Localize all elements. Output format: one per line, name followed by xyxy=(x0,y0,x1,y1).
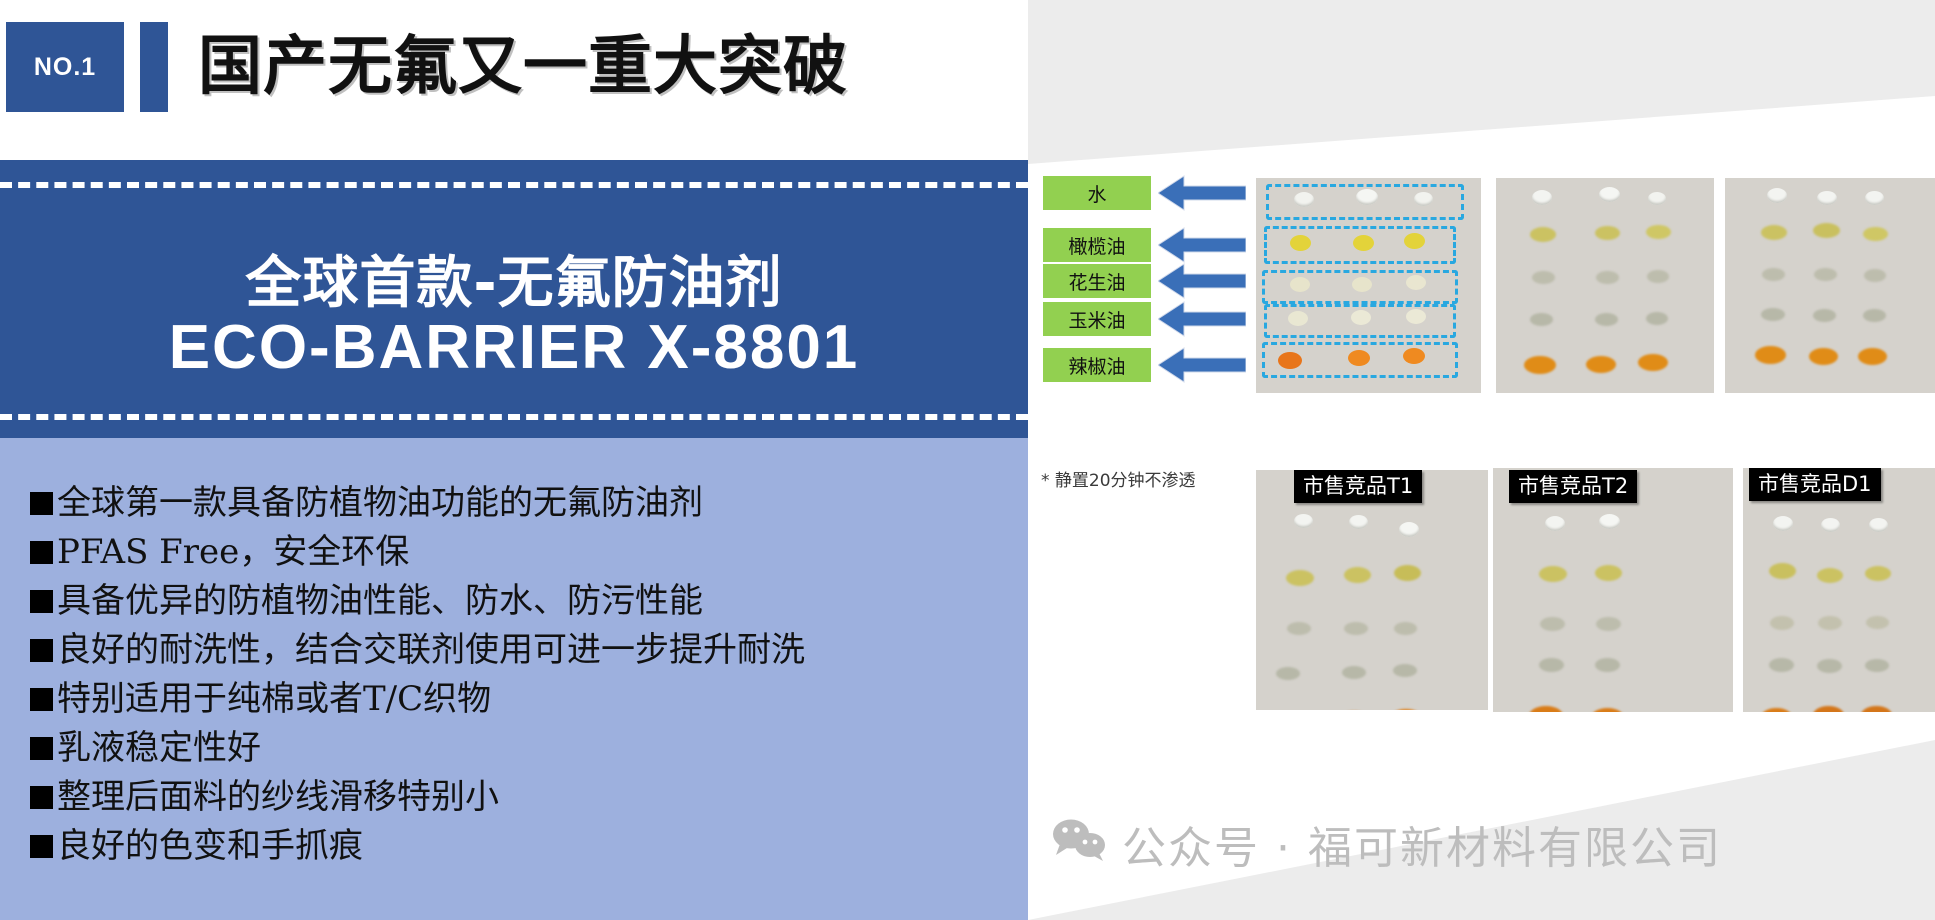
stain xyxy=(1591,708,1624,712)
stain xyxy=(1276,667,1300,680)
stain xyxy=(1817,568,1843,583)
hero-dashed-divider-top xyxy=(0,182,1028,188)
stain xyxy=(1344,622,1368,635)
stain xyxy=(1813,309,1836,322)
liquid-label-text: 水 xyxy=(1087,180,1106,207)
decorative-diagonal-bottom xyxy=(1028,700,1935,920)
bullet-square-icon xyxy=(30,737,53,760)
pointer-arrow-icon xyxy=(1158,174,1246,212)
footnote-text: * 静置20分钟不渗透 xyxy=(1041,466,1196,491)
stain xyxy=(1858,348,1887,365)
stain xyxy=(1646,312,1668,325)
stain xyxy=(1596,271,1619,284)
stain xyxy=(1769,563,1796,579)
stain xyxy=(1814,268,1837,281)
stain xyxy=(1817,659,1842,673)
list-item: 特别适用于纯棉或者T/C织物 xyxy=(30,676,1028,722)
test-card-competitor-t1: 市售竞品T1 xyxy=(1256,470,1488,710)
stain xyxy=(1539,566,1567,582)
bullet-text: PFAS Free，安全环保 xyxy=(57,529,409,575)
droplet xyxy=(1869,518,1888,532)
stain xyxy=(1530,313,1553,326)
liquid-label-text: 玉米油 xyxy=(1068,306,1125,333)
droplet xyxy=(1821,518,1840,532)
bullet-text: 特别适用于纯棉或者T/C织物 xyxy=(57,676,491,722)
bullet-text: 整理后面料的纱线滑移特别小 xyxy=(57,774,499,820)
hero-title-cn: 全球首款-无氟防油剂 xyxy=(0,238,1028,319)
droplet xyxy=(1403,348,1425,364)
hero-title-en: ECO-BARRIER X-8801 xyxy=(0,312,1028,383)
test-card-competitor-d1: 市售竞品D1 xyxy=(1743,468,1935,712)
stain xyxy=(1865,659,1889,672)
droplet xyxy=(1773,516,1793,531)
hero-dashed-divider-bottom xyxy=(0,414,1028,420)
test-card-label: 市售竞品D1 xyxy=(1749,468,1881,501)
stain xyxy=(1530,227,1556,242)
droplet xyxy=(1817,191,1837,205)
bullet-square-icon xyxy=(30,590,53,613)
left-content-column: NO.1 国产无氟又一重大突破 全球首款-无氟防油剂 ECO-BARRIER X… xyxy=(0,0,1028,920)
liquid-label-water: 水 xyxy=(1043,176,1151,210)
list-item: 全球第一款具备防植物油功能的无氟防油剂 xyxy=(30,480,1028,526)
stain xyxy=(1595,658,1620,672)
bullet-square-icon xyxy=(30,835,53,858)
list-item: 整理后面料的纱线滑移特别小 xyxy=(30,774,1028,820)
stain xyxy=(1762,268,1785,281)
test-card-competitor-r2: 市售竞品R2 xyxy=(1725,178,1935,393)
droplet xyxy=(1532,190,1552,205)
droplet xyxy=(1290,277,1310,292)
test-card-label: 市售竞品T2 xyxy=(1509,470,1637,503)
stain xyxy=(1532,271,1555,284)
header-accent-bar xyxy=(140,22,168,112)
droplet xyxy=(1348,350,1370,366)
liquid-label-corn-oil: 玉米油 xyxy=(1043,302,1151,336)
page-title: 国产无氟又一重大突破 xyxy=(198,20,848,114)
stain xyxy=(1864,269,1886,282)
pointer-arrow-icon xyxy=(1158,226,1246,264)
liquid-label-text: 花生油 xyxy=(1068,268,1125,295)
stain xyxy=(1818,616,1842,630)
droplet xyxy=(1414,192,1433,206)
droplet xyxy=(1352,277,1372,292)
droplet xyxy=(1648,192,1666,205)
stain xyxy=(1342,666,1366,679)
stain xyxy=(1866,616,1889,629)
slide-root: NO.1 国产无氟又一重大突破 全球首款-无氟防油剂 ECO-BARRIER X… xyxy=(0,0,1935,920)
bullet-text: 乳液稳定性好 xyxy=(57,725,261,771)
stain xyxy=(1524,356,1556,374)
stain xyxy=(1344,567,1371,583)
liquid-label-text: 橄榄油 xyxy=(1068,232,1125,259)
test-results-panel: 水 橄榄油 花生油 玉米油 辣椒油 * 静置20分钟不渗透 xyxy=(1028,0,1935,920)
bullet-square-icon xyxy=(30,688,53,711)
slide-header: NO.1 国产无氟又一重大突破 xyxy=(0,0,1028,155)
test-card-anti-vegetable-oil: 防植物油无氟 xyxy=(1256,178,1481,393)
droplet xyxy=(1356,189,1378,205)
stain xyxy=(1390,709,1422,710)
stain xyxy=(1646,225,1671,239)
bullet-square-icon xyxy=(30,786,53,809)
hero-banner: 全球首款-无氟防油剂 ECO-BARRIER X-8801 xyxy=(0,160,1028,438)
droplet xyxy=(1351,310,1371,325)
droplet xyxy=(1406,275,1426,290)
droplet xyxy=(1404,233,1425,249)
test-card-competitor-t2: 市售竞品T2 xyxy=(1493,468,1733,712)
droplet xyxy=(1599,514,1620,529)
number-badge: NO.1 xyxy=(6,22,124,112)
stain xyxy=(1769,658,1794,672)
droplet xyxy=(1599,187,1620,202)
droplet xyxy=(1278,352,1302,369)
watermark: 公众号 · 福可新材料有限公司 xyxy=(1052,812,1722,876)
stain xyxy=(1861,706,1892,712)
list-item: 具备优异的防植物油性能、防水、防污性能 xyxy=(30,578,1028,624)
liquid-label-olive-oil: 橄榄油 xyxy=(1043,228,1151,262)
stain xyxy=(1863,227,1888,241)
test-card-label: 市售竞品T1 xyxy=(1294,470,1422,503)
bullet-square-icon xyxy=(30,492,53,515)
watermark-text: 公众号 · 福可新材料有限公司 xyxy=(1122,812,1722,876)
stain xyxy=(1809,348,1838,365)
liquid-label-text: 辣椒油 xyxy=(1068,352,1125,379)
pointer-arrow-icon xyxy=(1158,262,1246,300)
stain xyxy=(1540,617,1565,631)
bullet-square-icon xyxy=(30,639,53,662)
bullet-text: 具备优异的防植物油性能、防水、防污性能 xyxy=(57,578,703,624)
list-item: 乳液稳定性好 xyxy=(30,725,1028,771)
stain xyxy=(1761,225,1787,240)
test-card-competitor-r1: 市售竞品R1 xyxy=(1496,178,1714,393)
stain xyxy=(1394,565,1421,581)
bullet-square-icon xyxy=(30,541,53,564)
stain xyxy=(1761,708,1792,712)
stain xyxy=(1865,566,1891,581)
stain xyxy=(1286,570,1314,586)
droplet xyxy=(1767,188,1787,203)
stain xyxy=(1813,223,1840,238)
stain xyxy=(1586,356,1616,373)
stain xyxy=(1813,706,1844,712)
droplet xyxy=(1290,235,1311,251)
feature-bullet-list: 全球第一款具备防植物油功能的无氟防油剂 PFAS Free，安全环保 具备优异的… xyxy=(0,438,1028,920)
pointer-arrow-icon xyxy=(1158,346,1246,384)
stain xyxy=(1755,346,1786,364)
list-item: PFAS Free，安全环保 xyxy=(30,529,1028,575)
droplet xyxy=(1294,514,1313,528)
droplet xyxy=(1353,235,1374,251)
stain xyxy=(1393,664,1417,677)
stain xyxy=(1539,658,1564,672)
stain xyxy=(1638,354,1668,371)
stain xyxy=(1647,270,1669,283)
stain xyxy=(1287,622,1311,635)
stain xyxy=(1863,309,1886,322)
liquid-label-chili-oil: 辣椒油 xyxy=(1043,348,1151,382)
stain xyxy=(1761,308,1785,321)
stain xyxy=(1595,565,1622,581)
stain xyxy=(1529,706,1563,712)
liquid-label-peanut-oil: 花生油 xyxy=(1043,264,1151,298)
stain xyxy=(1394,622,1417,635)
droplet xyxy=(1349,515,1368,529)
bullet-text: 良好的色变和手抓痕 xyxy=(57,823,363,869)
list-item: 良好的色变和手抓痕 xyxy=(30,823,1028,869)
stain xyxy=(1770,616,1794,630)
droplet xyxy=(1865,191,1884,205)
droplet xyxy=(1294,192,1314,207)
list-item: 良好的耐洗性，结合交联剂使用可进一步提升耐洗 xyxy=(30,627,1028,673)
droplet xyxy=(1406,309,1426,324)
stain xyxy=(1595,313,1618,326)
bullet-text: 全球第一款具备防植物油功能的无氟防油剂 xyxy=(57,480,703,526)
bullet-text: 良好的耐洗性，结合交联剂使用可进一步提升耐洗 xyxy=(57,627,805,673)
droplet xyxy=(1288,311,1308,326)
pointer-arrow-icon xyxy=(1158,300,1246,338)
droplet xyxy=(1545,516,1565,531)
stain xyxy=(1596,617,1621,631)
stain xyxy=(1595,226,1620,240)
wechat-icon xyxy=(1052,817,1108,872)
droplet xyxy=(1399,522,1419,537)
